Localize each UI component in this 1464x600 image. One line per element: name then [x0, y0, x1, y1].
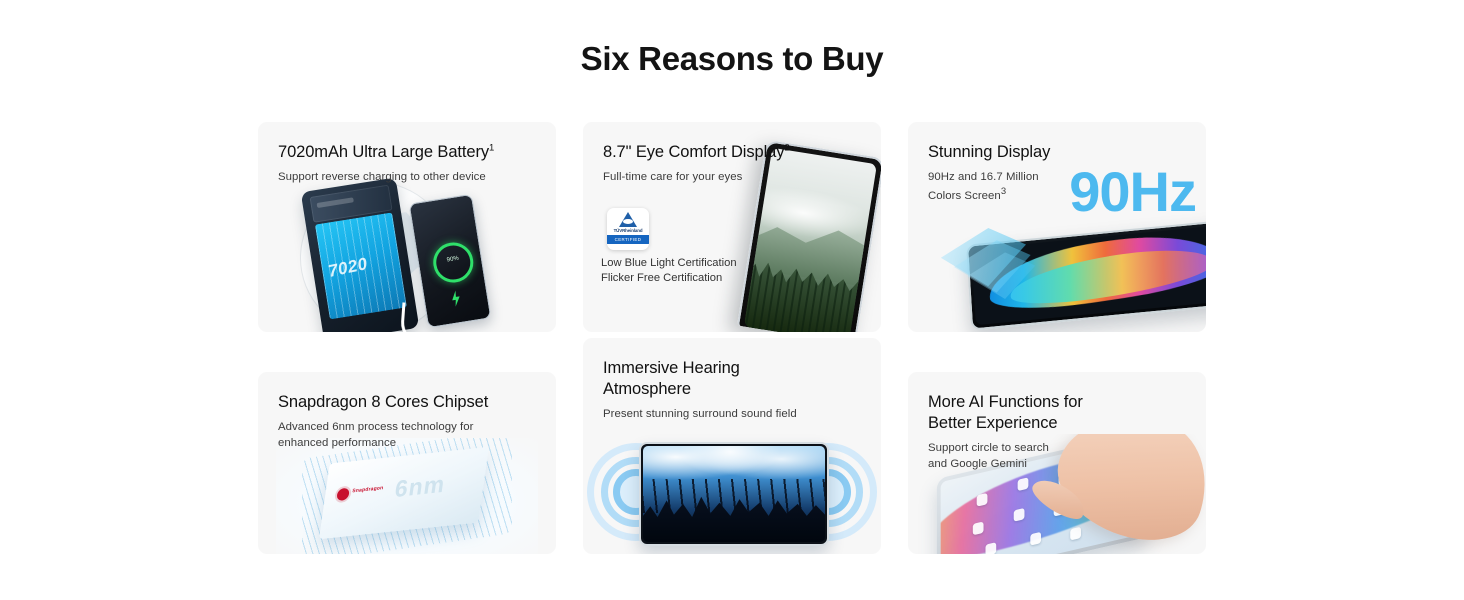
card-subtitle-line: and Google Gemini: [928, 456, 1192, 472]
card-title: More AI Functions for Better Experience: [928, 392, 1192, 434]
certification-item: Low Blue Light Certification: [601, 256, 737, 271]
tuv-certified-bar: CERTIFIED: [607, 235, 649, 244]
card-subtitle: 90Hz and 16.7 Million Colors Screen3: [928, 169, 1192, 204]
snapdragon-logo-icon: [336, 488, 350, 502]
card-title-line: More AI Functions for: [928, 392, 1192, 413]
card-title: Immersive Hearing Atmosphere: [603, 358, 867, 400]
feature-card-stunning-display[interactable]: Stunning Display 90Hz and 16.7 Million C…: [908, 122, 1206, 332]
charging-cable: [400, 302, 450, 332]
card-subtitle: Support reverse charging to other device: [278, 169, 542, 185]
card-subtitle-line: Colors Screen3: [928, 185, 1192, 204]
card-title-text: 8.7" Eye Comfort Display: [603, 143, 784, 161]
card-text-block: 8.7" Eye Comfort Display2 Full-time care…: [603, 142, 867, 185]
lightning-bolt-icon: [450, 290, 462, 307]
card-text-block: Immersive Hearing Atmosphere Present stu…: [603, 358, 867, 422]
certification-item: Flicker Free Certification: [601, 271, 737, 286]
promo-page: Six Reasons to Buy 7020mAh Ultra Large B…: [0, 0, 1464, 600]
tuv-triangle-icon: [619, 212, 637, 227]
card-title: 7020mAh Ultra Large Battery1: [278, 142, 542, 163]
tablet-and-phone-reverse-charging-image: [258, 176, 556, 332]
card-title-line: Immersive Hearing: [603, 358, 867, 379]
card-title: Snapdragon 8 Cores Chipset: [278, 392, 542, 413]
card-subtitle-line: Advanced 6nm process technology for: [278, 419, 542, 435]
card-title: Stunning Display: [928, 142, 1192, 163]
card-subtitle: Advanced 6nm process technology for enha…: [278, 419, 542, 451]
motion-feather-decoration: [939, 224, 1042, 314]
tablet-concert-crowd-with-sound-waves-image: [583, 430, 881, 554]
tuv-rheinland-certified-badge: TÜVRheinland CERTIFIED: [607, 208, 649, 250]
card-subtitle: Support circle to search and Google Gemi…: [928, 440, 1192, 472]
snapdragon-chip-image: Snapdragon: [258, 438, 556, 554]
card-subtitle-line: 90Hz and 16.7 Million: [928, 169, 1192, 185]
card-title: 8.7" Eye Comfort Display2: [603, 142, 867, 163]
card-subtitle-line: enhanced performance: [278, 435, 542, 451]
card-subtitle: Present stunning surround sound field: [603, 406, 867, 422]
feature-card-eye-comfort[interactable]: 8.7" Eye Comfort Display2 Full-time care…: [583, 122, 881, 332]
snapdragon-logo-text: Snapdragon: [352, 485, 384, 495]
card-footnote-marker: 3: [1001, 186, 1006, 197]
card-text-block: More AI Functions for Better Experience …: [928, 392, 1192, 473]
feature-card-battery[interactable]: 7020mAh Ultra Large Battery1 Support rev…: [258, 122, 556, 332]
battery-cell-graphic: [315, 212, 407, 319]
concert-scene-wallpaper: [643, 446, 825, 542]
card-text-block: 7020mAh Ultra Large Battery1 Support rev…: [278, 142, 542, 185]
card-title-line: Atmosphere: [603, 379, 867, 400]
feature-card-ai[interactable]: More AI Functions for Better Experience …: [908, 372, 1206, 554]
feature-card-chipset[interactable]: Snapdragon 8 Cores Chipset Advanced 6nm …: [258, 372, 556, 554]
charging-ring-icon: [430, 240, 476, 286]
feature-card-audio[interactable]: Immersive Hearing Atmosphere Present stu…: [583, 338, 881, 554]
card-title-text: 7020mAh Ultra Large Battery: [278, 143, 489, 161]
feature-card-grid: 7020mAh Ultra Large Battery1 Support rev…: [258, 122, 1208, 554]
certification-list: Low Blue Light Certification Flicker Fre…: [601, 256, 737, 286]
tablet-device-landscape: [639, 442, 829, 546]
tuv-brand-text: TÜVRheinland: [614, 228, 643, 233]
card-text-block: Snapdragon 8 Cores Chipset Advanced 6nm …: [278, 392, 542, 451]
card-text-block: Stunning Display 90Hz and 16.7 Million C…: [928, 142, 1192, 204]
page-title: Six Reasons to Buy: [0, 40, 1464, 78]
card-subtitle: Full-time care for your eyes: [603, 169, 867, 185]
card-footnote-marker: 2: [784, 143, 789, 154]
card-title-line: Better Experience: [928, 413, 1192, 434]
card-subtitle-line: Support circle to search: [928, 440, 1192, 456]
card-footnote-marker: 1: [489, 143, 494, 154]
